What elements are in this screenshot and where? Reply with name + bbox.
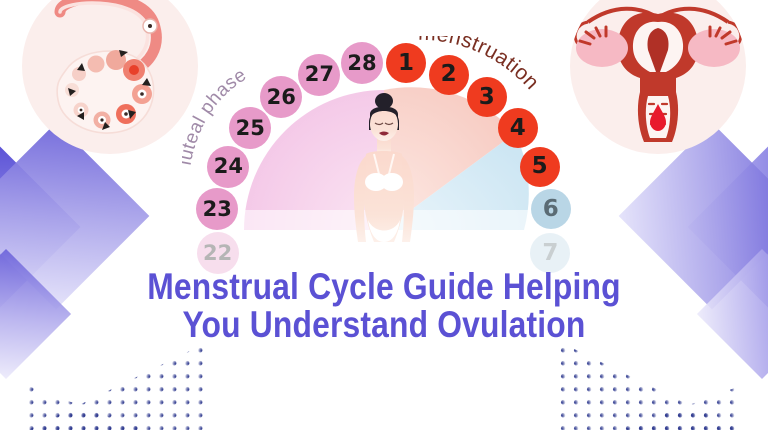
day-circle-27[interactable]: 27 (298, 54, 340, 96)
cycle-wheel: menstruation luteal phase 22232425262728… (186, 14, 582, 246)
day-number-label: 2 (441, 63, 457, 86)
dot-pattern-right (560, 334, 740, 430)
day-number-label: 5 (532, 155, 548, 178)
day-circle-28[interactable]: 28 (341, 42, 383, 84)
day-number-label: 22 (203, 243, 232, 264)
day-circle-25[interactable]: 25 (229, 107, 271, 149)
title-line-2: You Understand Ovulation (54, 306, 714, 344)
day-circle-23[interactable]: 23 (196, 188, 238, 230)
uterus-anatomy-diagram (570, 0, 746, 154)
illustration-uterus-medallion (570, 0, 746, 154)
day-number-label: 1 (398, 52, 414, 75)
day-number-label: 25 (236, 118, 265, 139)
day-circle-4[interactable]: 4 (498, 108, 538, 148)
day-circle-26[interactable]: 26 (260, 76, 302, 118)
day-number-label: 7 (542, 242, 558, 265)
day-circle-group: 222324252627281234567 (186, 14, 582, 246)
day-circle-6[interactable]: 6 (531, 189, 571, 229)
page-title: Menstrual Cycle Guide Helping You Unders… (0, 268, 768, 345)
day-number-label: 26 (267, 87, 296, 108)
day-number-label: 23 (203, 199, 232, 220)
dot-pattern-left (28, 334, 208, 430)
day-number-label: 27 (305, 64, 334, 85)
poster-canvas: menstruation luteal phase 22232425262728… (0, 0, 768, 432)
day-number-label: 6 (543, 198, 559, 221)
ovary-ovulation-diagram (22, 0, 198, 154)
title-line-1: Menstrual Cycle Guide Helping (54, 268, 714, 306)
day-circle-24[interactable]: 24 (207, 146, 249, 188)
day-number-label: 24 (214, 156, 243, 177)
day-circle-3[interactable]: 3 (467, 77, 507, 117)
day-number-label: 3 (479, 86, 495, 109)
day-number-label: 28 (347, 53, 376, 74)
day-circle-1[interactable]: 1 (386, 43, 426, 83)
day-circle-2[interactable]: 2 (429, 55, 469, 95)
day-circle-5[interactable]: 5 (520, 147, 560, 187)
illustration-ovary-medallion (22, 0, 198, 154)
day-number-label: 4 (510, 117, 526, 140)
